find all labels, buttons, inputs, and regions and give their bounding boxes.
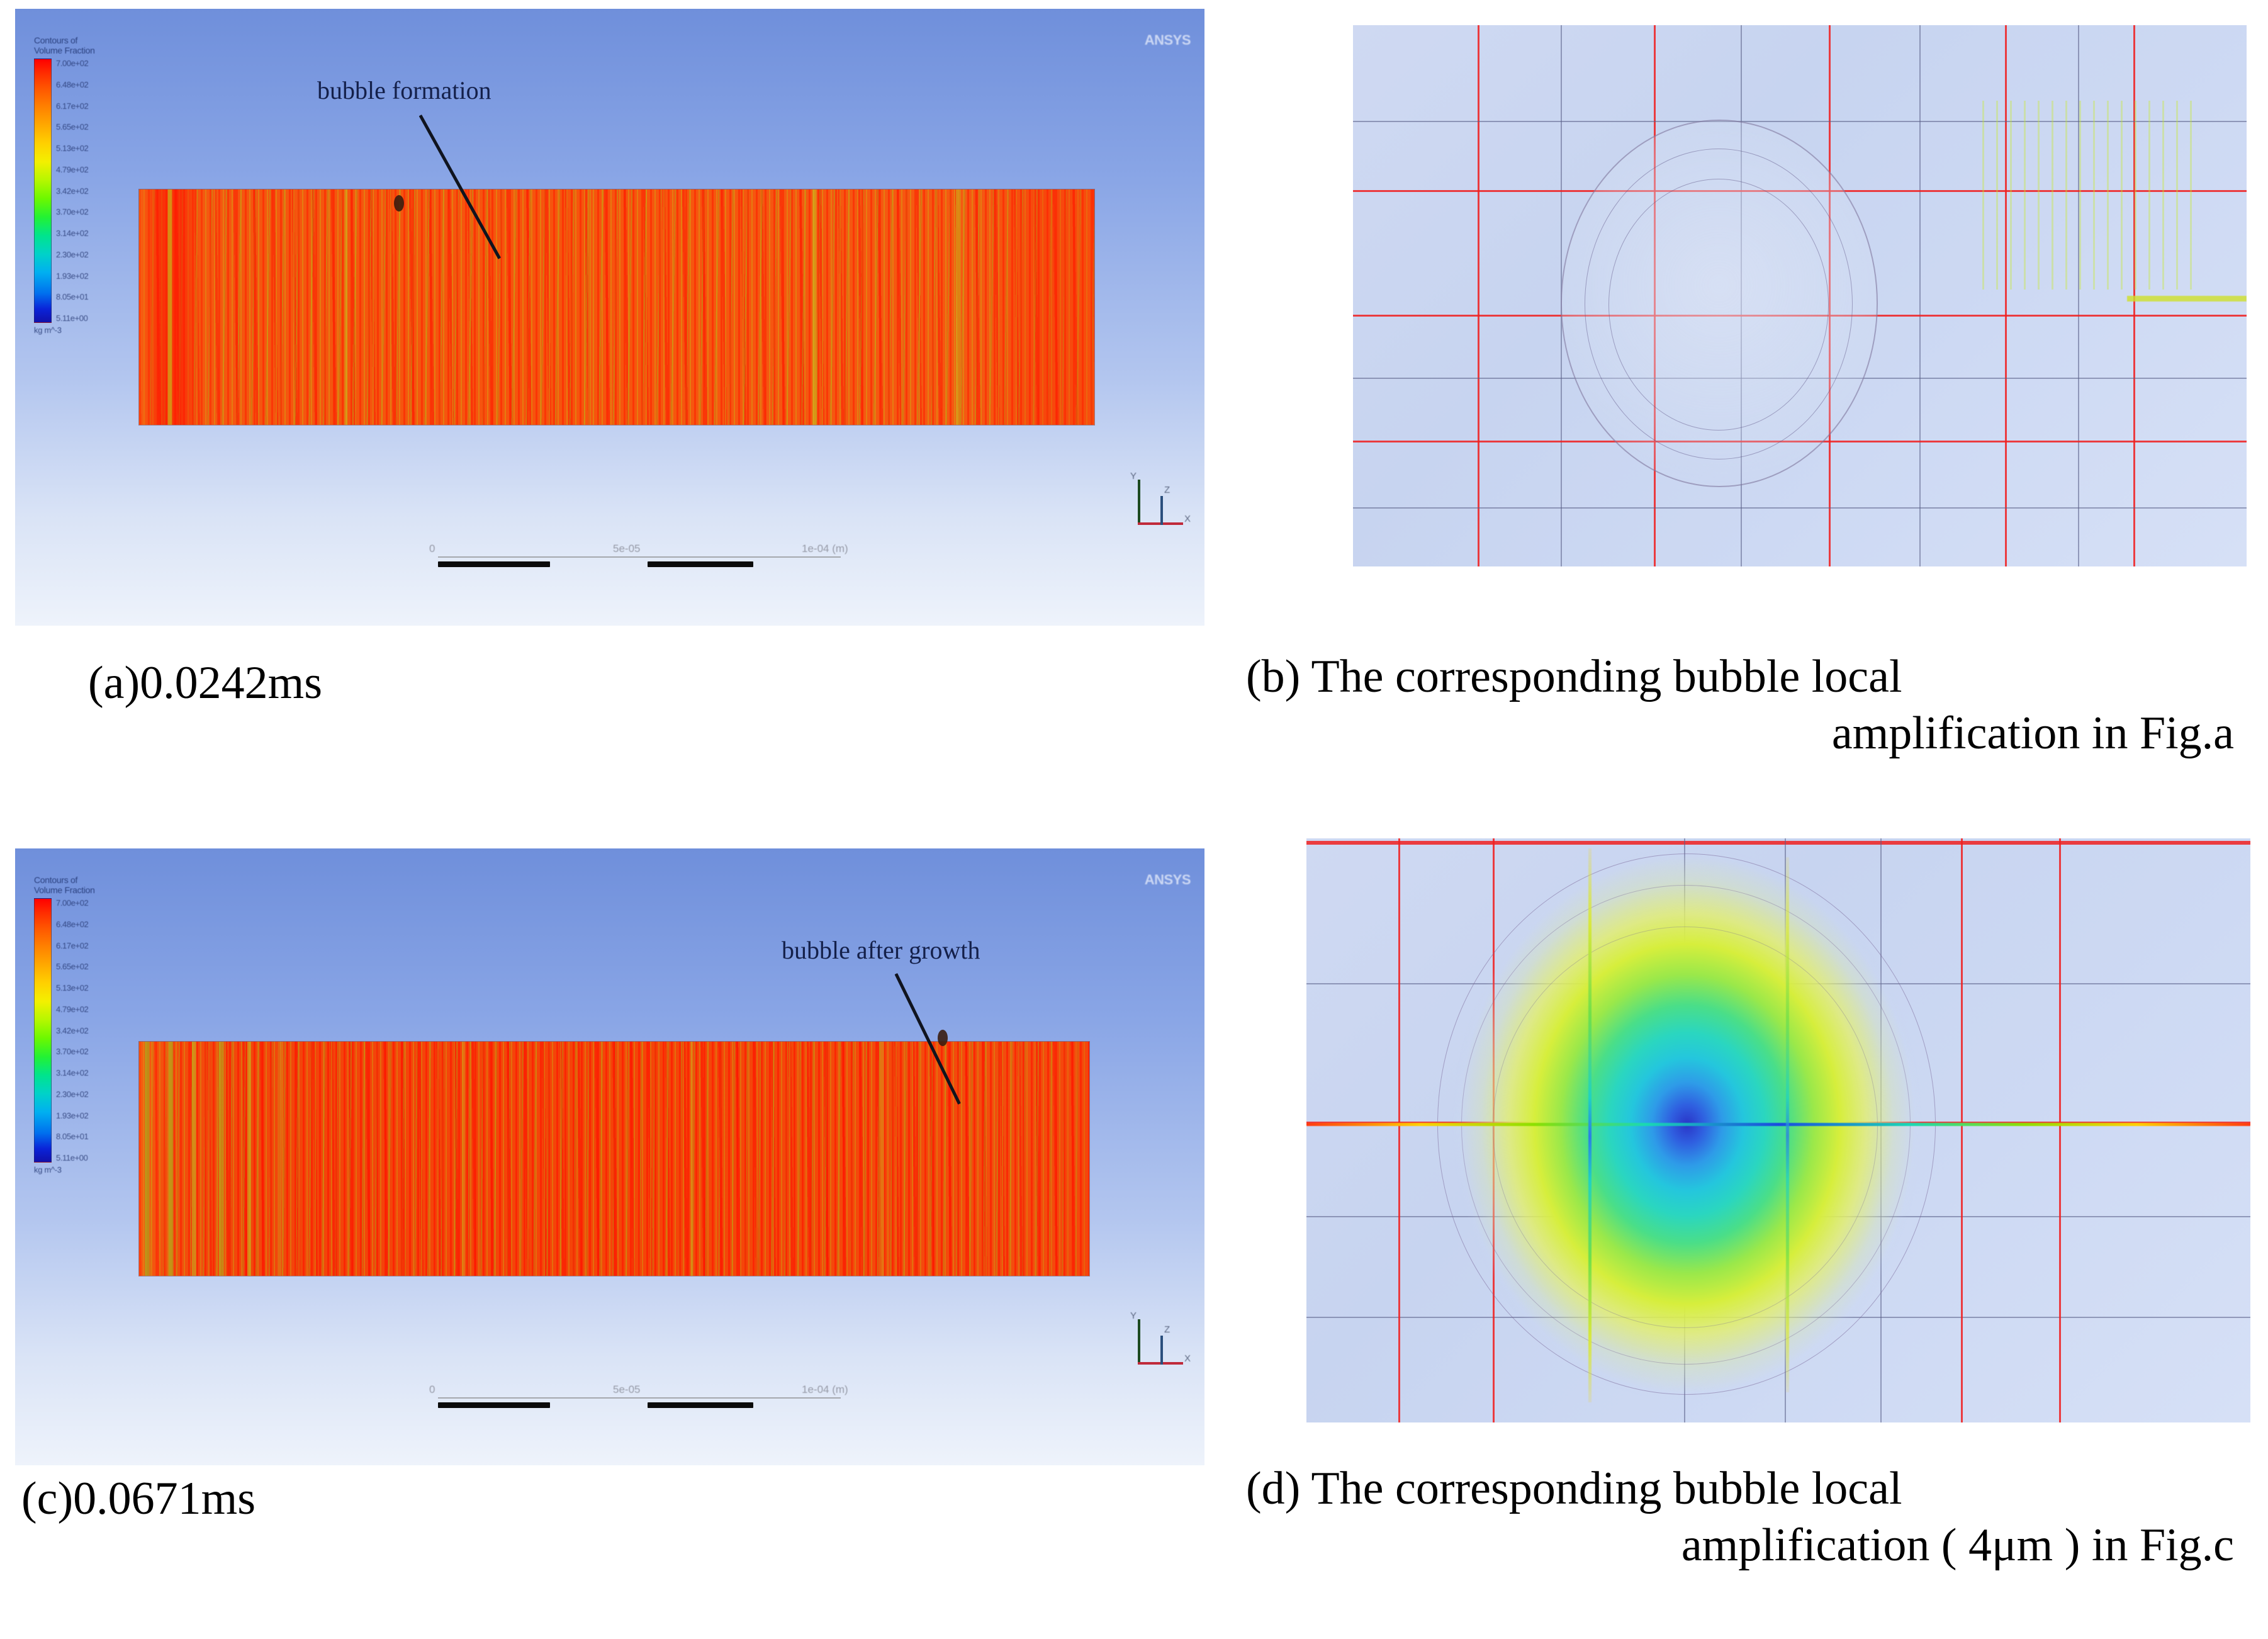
axis-y-arrow: [1138, 480, 1140, 525]
legend-tick: 6.48e+02: [56, 80, 88, 89]
axis-y-arrow: [1138, 1319, 1140, 1365]
legend-title-line1: Contours of: [34, 875, 160, 885]
gridline-vertical: [1398, 838, 1400, 1422]
gridline-vertical: [2059, 838, 2061, 1422]
legend-title-line2: Volume Fraction: [34, 45, 160, 55]
panel-c-annotation-target: [938, 1030, 948, 1046]
panel-a-contour: Contours of Volume Fraction 7.00e+02 6.4…: [15, 9, 1204, 626]
legend-tick: 3.42e+02: [56, 186, 88, 196]
scalebar-segment: [648, 1402, 753, 1408]
axis-x-label: X: [1184, 1353, 1191, 1364]
gridline-vertical-secondary: [1919, 25, 1921, 566]
caption-b-line1: (b) The corresponding bubble local: [1246, 651, 1902, 702]
legend-title-line1: Contours of: [34, 35, 160, 45]
legend-tick: 2.30e+02: [56, 1090, 88, 1099]
scalebar-segment: [438, 561, 550, 567]
legend-tick: 7.00e+02: [56, 59, 88, 68]
legend-tick: 5.65e+02: [56, 122, 88, 132]
panel-d-vertical-contour-axis: [1786, 857, 1789, 1392]
legend-tick: 3.14e+02: [56, 1068, 88, 1078]
axis-x-label: X: [1184, 514, 1191, 524]
panel-a-scalebar: 0 5e-05 1e-04 (m): [424, 541, 858, 579]
scalebar-label-left: 0: [429, 1383, 435, 1396]
panel-c-watermark: ANSYS: [1145, 872, 1191, 887]
scalebar-label-left: 0: [429, 543, 435, 555]
caption-b: (b) The corresponding bubble local ampli…: [1246, 648, 2234, 762]
axis-z-arrow: [1160, 1336, 1163, 1365]
legend-title-line2: Volume Fraction: [34, 885, 160, 895]
panel-b-yellow-streaks: [1982, 101, 2196, 290]
panel-d-vertical-contour-axis: [1588, 848, 1592, 1402]
legend-tick-labels: 7.00e+02 6.48e+02 6.17e+02 5.65e+02 5.13…: [52, 59, 88, 323]
legend-tick: 2.30e+02: [56, 250, 88, 259]
figure-root: Contours of Volume Fraction 7.00e+02 6.4…: [0, 0, 2268, 1639]
panel-a-annotation-label: bubble formation: [317, 76, 491, 105]
panel-c-scalebar: 0 5e-05 1e-04 (m): [424, 1382, 858, 1420]
scalebar-segment: [648, 561, 753, 567]
legend-tick: 5.11e+00: [56, 1153, 88, 1163]
panel-a-axis-triad: Y X Z: [1129, 475, 1198, 544]
scalebar-rule: [438, 556, 841, 558]
axis-z-label: Z: [1164, 1324, 1170, 1335]
scalebar-label-mid: 5e-05: [613, 1383, 640, 1396]
legend-tick: 5.13e+02: [56, 144, 88, 153]
panel-c-axis-triad: Y X Z: [1129, 1314, 1198, 1383]
panel-a-domain: [138, 189, 1095, 425]
caption-d-line1: (d) The corresponding bubble local: [1246, 1463, 1902, 1514]
caption-d-line2: amplification ( 4μm ) in Fig.c: [1246, 1517, 2234, 1574]
panel-c-annotation-label: bubble after growth: [782, 935, 980, 965]
panel-d-mesh-zoom: [1306, 838, 2250, 1422]
panel-b-mesh-zoom: [1353, 25, 2247, 566]
gridline-horizontal: [1306, 841, 2250, 845]
legend-tick: 3.70e+02: [56, 1047, 88, 1056]
gridline-vertical: [1961, 838, 1963, 1422]
axis-y-label: Y: [1130, 1310, 1137, 1321]
legend-tick: 5.65e+02: [56, 962, 88, 971]
gridline-vertical: [1478, 25, 1479, 566]
axis-z-arrow: [1160, 496, 1163, 525]
gridline-horizontal-secondary: [1353, 507, 2247, 509]
caption-a: (a)0.0242ms: [88, 655, 654, 711]
legend-colorbar: [34, 898, 52, 1163]
legend-tick: 5.11e+00: [56, 313, 88, 323]
legend-tick: 4.79e+02: [56, 165, 88, 174]
scalebar-label-right: 1e-04 (m): [802, 1383, 848, 1396]
legend-tick: 1.93e+02: [56, 271, 88, 281]
panel-b-yellow-streak-marker: [2127, 296, 2247, 301]
legend-tick: 8.05e+01: [56, 1132, 88, 1141]
scalebar-label-right: 1e-04 (m): [802, 543, 848, 555]
legend-colorbar: [34, 59, 52, 323]
caption-b-line2: amplification in Fig.a: [1246, 705, 2234, 762]
legend-tick: 5.13e+02: [56, 983, 88, 993]
caption-c: (c)0.0671ms: [21, 1470, 588, 1527]
legend-tick: 8.05e+01: [56, 292, 88, 301]
legend-tick: 7.00e+02: [56, 898, 88, 908]
caption-d: (d) The corresponding bubble local ampli…: [1246, 1460, 2234, 1574]
legend-tick: 3.70e+02: [56, 207, 88, 217]
panel-a-annotation-target: [394, 195, 404, 211]
legend-tick: 3.42e+02: [56, 1026, 88, 1035]
legend-tick: 6.17e+02: [56, 101, 88, 111]
legend-tick: 4.79e+02: [56, 1005, 88, 1014]
scalebar-segment: [438, 1402, 550, 1408]
legend-tick: 1.93e+02: [56, 1111, 88, 1120]
scalebar-label-mid: 5e-05: [613, 543, 640, 555]
legend-tick: 6.17e+02: [56, 941, 88, 950]
scalebar-rule: [438, 1397, 841, 1399]
panel-c-contour: Contours of Volume Fraction 7.00e+02 6.4…: [15, 848, 1204, 1465]
legend-tick: 3.14e+02: [56, 228, 88, 238]
axis-z-label: Z: [1164, 485, 1170, 495]
panel-a-watermark: ANSYS: [1145, 33, 1191, 48]
panel-b-bubble-ring: [1608, 179, 1829, 431]
legend-tick-labels: 7.00e+02 6.48e+02 6.17e+02 5.65e+02 5.13…: [52, 898, 88, 1163]
panel-d-horizontal-contour-axis: [1306, 1123, 2250, 1126]
domain-vertical-green-lines: [139, 189, 1094, 425]
legend-tick: 6.48e+02: [56, 920, 88, 929]
panel-d-bubble-ring: [1493, 927, 1878, 1328]
axis-y-label: Y: [1130, 471, 1137, 482]
